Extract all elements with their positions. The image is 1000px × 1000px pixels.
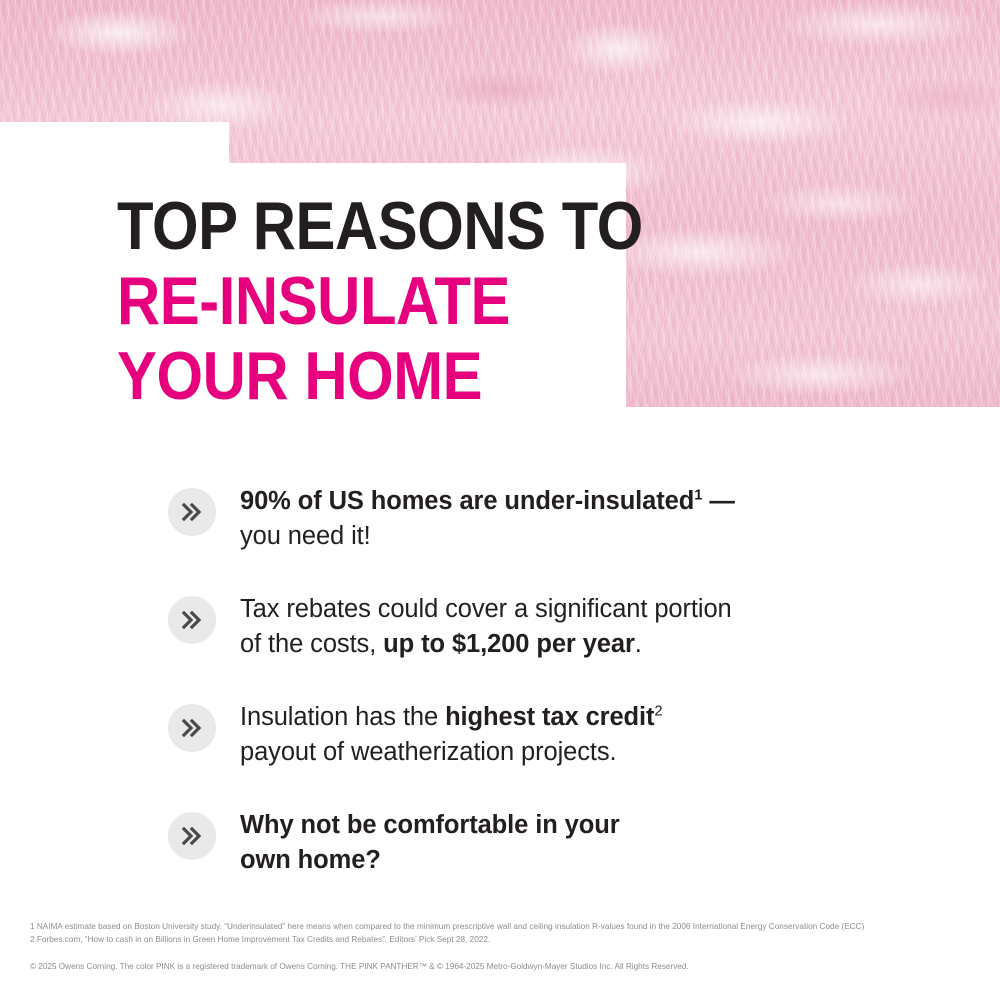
bullet-3-emphasis: highest tax credit xyxy=(445,703,654,731)
double-chevron-right-icon xyxy=(168,596,216,644)
bullet-1-lead: 90% of US homes are under-insulated xyxy=(240,487,694,515)
bullet-4-line2: own home? xyxy=(240,846,381,874)
list-item-text-under-insulated: 90% of US homes are under-insulated1 — y… xyxy=(240,482,735,554)
bullet-4-line1: Why not be comfortable in your xyxy=(240,811,620,839)
list-item: Tax rebates could cover a significant po… xyxy=(168,590,928,662)
bullet-3-lead: Insulation has the xyxy=(240,703,445,731)
footnote-ref-2: 2 xyxy=(654,704,662,720)
bullet-1-dash: — xyxy=(702,487,734,515)
white-notch-upper xyxy=(0,122,229,163)
page-title: TOP REASONS TO RE-INSULATE YOUR HOME xyxy=(117,189,715,414)
bullet-1-tail: you need it! xyxy=(240,522,371,550)
headline-line-3: YOUR HOME xyxy=(117,339,643,414)
copyright-notice: © 2025 Owens Corning. The color PINK is … xyxy=(30,961,689,974)
footnotes: 1 NAIMA estimate based on Boston Univers… xyxy=(30,921,980,946)
footnote-2: 2 Forbes.com, “How to cash in on Billion… xyxy=(30,934,980,947)
list-item: Why not be comfortable in yourown home? xyxy=(168,806,928,878)
bullet-2-line2-lead: of the costs, xyxy=(240,630,383,658)
double-chevron-right-icon xyxy=(168,704,216,752)
list-item: 90% of US homes are under-insulated1 — y… xyxy=(168,482,928,554)
list-item: Insulation has the highest tax credit2 p… xyxy=(168,698,928,770)
footnote-1: 1 NAIMA estimate based on Boston Univers… xyxy=(30,921,980,934)
bullet-2-period: . xyxy=(635,630,642,658)
list-item-text-highest-tax-credit: Insulation has the highest tax credit2 p… xyxy=(240,698,663,770)
double-chevron-right-icon xyxy=(168,812,216,860)
list-item-text-be-comfortable: Why not be comfortable in yourown home? xyxy=(240,806,620,878)
bullet-2-line1: Tax rebates could cover a significant po… xyxy=(240,595,732,623)
bullet-3-tail: payout of weatherization projects. xyxy=(240,738,617,766)
headline-line-1: TOP REASONS TO xyxy=(117,189,643,264)
headline-line-2: RE-INSULATE xyxy=(117,264,643,339)
list-item-text-tax-rebates: Tax rebates could cover a significant po… xyxy=(240,590,732,662)
bullet-2-emphasis: up to $1,200 per year xyxy=(383,630,635,658)
double-chevron-right-icon xyxy=(168,488,216,536)
reasons-list: 90% of US homes are under-insulated1 — y… xyxy=(168,482,928,878)
